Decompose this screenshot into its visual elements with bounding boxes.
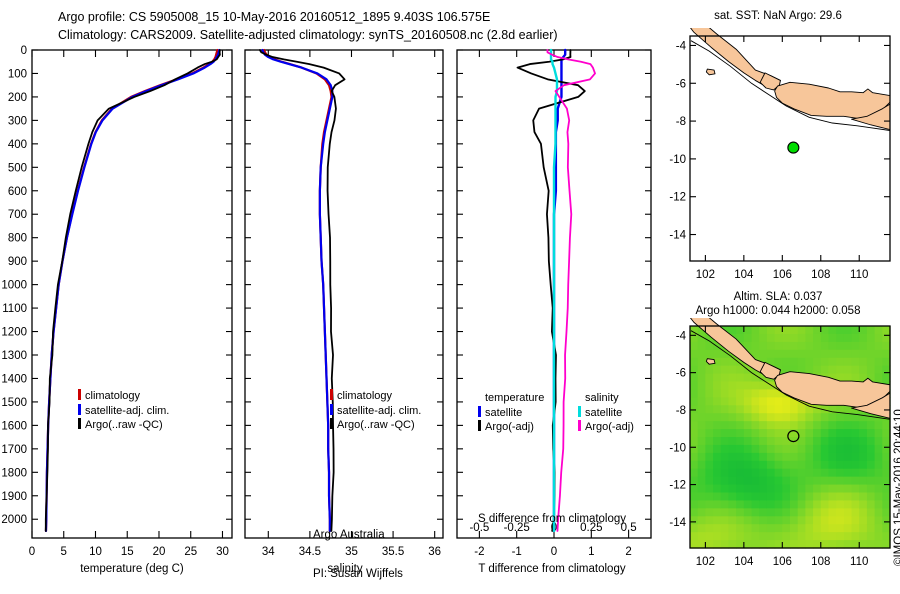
legend-item-climatology: climatology <box>78 389 169 404</box>
argo-program-name: Argo Australia <box>313 529 403 542</box>
svg-text:104: 104 <box>734 269 754 281</box>
legend-swatch-satellite-clim <box>330 404 333 415</box>
profile-location-marker <box>788 142 799 153</box>
svg-text:106: 106 <box>773 269 792 281</box>
imos-credit: ©IMOS 15-May-2016 20:44:10 <box>893 409 900 566</box>
svg-text:200: 200 <box>8 92 27 104</box>
svg-text:1500: 1500 <box>1 397 27 409</box>
argo-program-credit: Argo Australia PI: Susan Wijffels <box>313 503 403 594</box>
svg-text:-12: -12 <box>669 192 686 204</box>
svg-text:25: 25 <box>184 546 197 558</box>
svg-text:34: 34 <box>262 546 275 558</box>
legend-swatch-temperature-argo <box>478 420 481 431</box>
sla-map: 102104106108110-4-6-8-10-12-14 <box>660 318 900 580</box>
svg-text:800: 800 <box>8 233 27 245</box>
svg-text:102: 102 <box>696 556 715 568</box>
legend-swatch-climatology <box>330 389 333 400</box>
svg-text:-10: -10 <box>669 154 686 166</box>
svg-text:-10: -10 <box>669 442 686 454</box>
svg-text:5: 5 <box>61 546 67 558</box>
temperature-xaxis-label: temperature (deg C) <box>32 563 232 575</box>
svg-text:-2: -2 <box>474 546 484 558</box>
legend-item-temperature-satellite: satellite <box>478 406 544 421</box>
svg-text:-1: -1 <box>512 546 522 558</box>
legend-group-salinity-title: salinity <box>578 392 634 406</box>
svg-text:1200: 1200 <box>1 327 27 339</box>
svg-text:36: 36 <box>428 546 441 558</box>
difference-panel: -2-1012-0.5-0.2500.250.5 <box>450 0 660 580</box>
svg-text:102: 102 <box>696 269 715 281</box>
temperature-panel: 0100200300400500600700800900100011001200… <box>0 0 240 580</box>
legend-item-salinity-satellite: satellite <box>578 406 634 421</box>
difference-top-xaxis-label: S difference from climatology <box>457 513 647 525</box>
svg-text:0: 0 <box>21 45 27 57</box>
svg-text:30: 30 <box>216 546 229 558</box>
svg-text:-4: -4 <box>676 330 687 342</box>
argo-pi-name: PI: Susan Wijffels <box>313 568 403 581</box>
legend-swatch-salinity-argo <box>578 420 581 431</box>
svg-text:2: 2 <box>625 546 631 558</box>
temperature-legend: climatology satellite-adj. clim. Argo(..… <box>78 389 169 433</box>
svg-text:1900: 1900 <box>1 491 27 503</box>
difference-bottom-xaxis-label: T difference from climatology <box>453 563 651 575</box>
svg-text:400: 400 <box>8 139 27 151</box>
temperature-plot-svg: 0100200300400500600700800900100011001200… <box>0 0 240 580</box>
svg-text:110: 110 <box>850 556 868 568</box>
svg-text:-6: -6 <box>676 78 686 90</box>
legend-item-climatology: climatology <box>330 389 421 404</box>
svg-text:2000: 2000 <box>1 514 27 526</box>
svg-text:-14: -14 <box>669 230 686 242</box>
svg-text:700: 700 <box>8 209 27 221</box>
sla-field <box>690 326 891 549</box>
difference-plot-svg: -2-1012-0.5-0.2500.250.5 <box>450 0 660 580</box>
difference-legend-salinity: salinity satellite Argo(-adj) <box>578 392 634 435</box>
svg-text:1300: 1300 <box>1 350 27 362</box>
difference-legend: temperature satellite Argo(-adj) <box>478 392 544 435</box>
sla-map-svg: 102104106108110-4-6-8-10-12-14 <box>660 318 900 580</box>
svg-text:1000: 1000 <box>1 280 27 292</box>
svg-text:104: 104 <box>734 556 754 568</box>
svg-text:1100: 1100 <box>2 303 27 315</box>
svg-text:1400: 1400 <box>1 373 27 385</box>
legend-item-salinity-argo: Argo(-adj) <box>578 420 634 435</box>
svg-text:1800: 1800 <box>1 467 27 479</box>
sst-map-svg: 102104106108110-4-6-8-10-12-14 <box>660 28 900 293</box>
svg-text:-8: -8 <box>676 405 686 417</box>
svg-text:0: 0 <box>29 546 35 558</box>
svg-text:110: 110 <box>850 269 868 281</box>
svg-text:-6: -6 <box>676 368 686 380</box>
legend-swatch-climatology <box>78 389 81 400</box>
svg-text:106: 106 <box>773 556 792 568</box>
sla-map-title-line1: Altim. SLA: 0.037 <box>668 291 888 303</box>
salinity-panel: 3434.53535.536 <box>240 0 455 580</box>
svg-text:1: 1 <box>588 546 594 558</box>
svg-text:100: 100 <box>8 68 27 80</box>
sst-map-title: sat. SST: NaN Argo: 29.6 <box>668 10 888 22</box>
svg-text:1600: 1600 <box>1 420 27 432</box>
svg-text:108: 108 <box>811 556 830 568</box>
svg-text:108: 108 <box>811 269 830 281</box>
salinity-legend: climatology satellite-adj. clim. Argo(..… <box>330 389 421 433</box>
salinity-plot-svg: 3434.53535.536 <box>240 0 455 580</box>
svg-text:0: 0 <box>551 546 557 558</box>
sst-map: 102104106108110-4-6-8-10-12-14 <box>660 28 900 293</box>
svg-text:900: 900 <box>8 256 27 268</box>
legend-item-satellite-clim: satellite-adj. clim. <box>330 404 421 419</box>
svg-text:15: 15 <box>121 546 134 558</box>
legend-swatch-argo-raw <box>78 418 81 429</box>
legend-item-argo-raw: Argo(..raw -QC) <box>78 418 169 433</box>
legend-swatch-temperature-satellite <box>478 406 481 417</box>
svg-text:1700: 1700 <box>1 444 27 456</box>
svg-text:-4: -4 <box>676 40 687 52</box>
legend-item-satellite-clim: satellite-adj. clim. <box>78 404 169 419</box>
svg-text:600: 600 <box>8 186 27 198</box>
svg-text:500: 500 <box>8 162 27 174</box>
legend-item-argo-raw: Argo(..raw -QC) <box>330 418 421 433</box>
svg-text:10: 10 <box>89 546 102 558</box>
svg-text:300: 300 <box>8 115 27 127</box>
svg-text:20: 20 <box>153 546 166 558</box>
legend-group-temperature-title: temperature <box>478 392 544 406</box>
legend-swatch-argo-raw <box>330 418 333 429</box>
legend-swatch-salinity-satellite <box>578 406 581 417</box>
sla-map-title-line2: Argo h1000: 0.044 h2000: 0.058 <box>660 305 896 317</box>
legend-swatch-satellite-clim <box>78 404 81 415</box>
svg-text:-8: -8 <box>676 116 686 128</box>
legend-item-temperature-argo: Argo(-adj) <box>478 420 544 435</box>
svg-text:-12: -12 <box>669 480 686 492</box>
svg-text:-14: -14 <box>669 517 686 529</box>
